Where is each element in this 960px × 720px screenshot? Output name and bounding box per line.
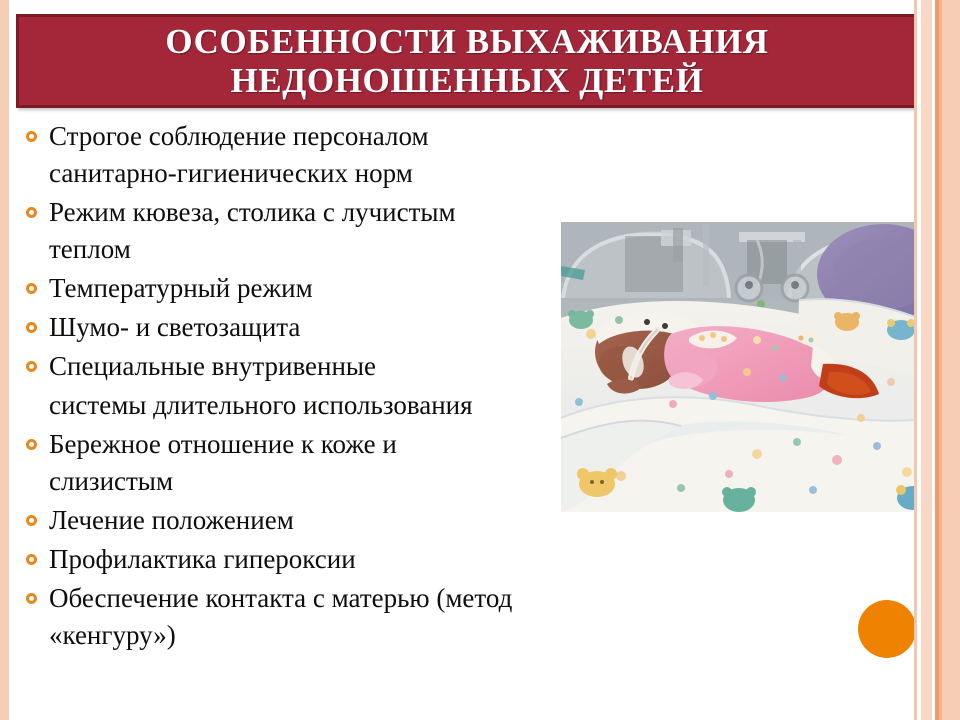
bullet-ring-icon bbox=[26, 283, 37, 294]
list-item-text: Профилактика гипероксии bbox=[49, 541, 646, 578]
list-item-text: Специальные внутривенные bbox=[49, 348, 646, 385]
bullet-ring-icon bbox=[26, 554, 37, 565]
right-decorative-stripes bbox=[914, 0, 960, 720]
list-item-text: Лечение положением bbox=[49, 502, 646, 539]
bullet-list: Строгое соблюдение персоналом санитарно-… bbox=[26, 118, 646, 656]
bullet-ring-icon bbox=[26, 515, 37, 526]
bullet-ring-icon bbox=[26, 593, 37, 604]
list-item-text: Температурный режим bbox=[49, 270, 646, 307]
slide-canvas: ОСОБЕННОСТИ ВЫХАЖИВАНИЯ НЕДОНОШЕННЫХ ДЕТ… bbox=[0, 0, 960, 720]
list-item-text: системы длительного использования bbox=[49, 387, 646, 424]
list-item: Специальные внутривенные bbox=[26, 348, 646, 385]
list-item: Температурный режим bbox=[26, 270, 646, 307]
page-title: ОСОБЕННОСТИ ВЫХАЖИВАНИЯ НЕДОНОШЕННЫХ ДЕТ… bbox=[155, 22, 778, 100]
list-item: Бережное отношение к коже и слизистым bbox=[26, 426, 646, 500]
bullet-ring-icon bbox=[26, 322, 37, 333]
bullet-ring-icon bbox=[26, 131, 37, 142]
slide-title-box: ОСОБЕННОСТИ ВЫХАЖИВАНИЯ НЕДОНОШЕННЫХ ДЕТ… bbox=[16, 14, 918, 108]
incubator-photo bbox=[561, 222, 939, 512]
list-item: Обеспечение контакта с матерью (метод «к… bbox=[26, 580, 646, 654]
left-decorative-stripe-gap bbox=[9, 0, 12, 720]
bullet-ring-icon bbox=[26, 361, 37, 372]
left-decorative-stripe bbox=[0, 0, 9, 720]
list-item: Шумо- и светозащита bbox=[26, 309, 646, 346]
list-item-continuation: системы длительного использования bbox=[26, 387, 646, 424]
list-item-text: Строгое соблюдение персоналом санитарно-… bbox=[49, 118, 646, 192]
stripe-3 bbox=[921, 0, 932, 720]
accent-circle bbox=[858, 600, 916, 658]
list-item: Лечение положением bbox=[26, 502, 646, 539]
bullet-ring-icon bbox=[26, 439, 37, 450]
list-item: Строгое соблюдение персоналом санитарно-… bbox=[26, 118, 646, 192]
list-item-text: Бережное отношение к коже и слизистым bbox=[49, 426, 646, 500]
list-item-text: Шумо- и светозащита bbox=[49, 309, 646, 346]
stripe-7 bbox=[942, 0, 960, 720]
list-item-text: Обеспечение контакта с матерью (метод «к… bbox=[49, 580, 646, 654]
list-item: Профилактика гипероксии bbox=[26, 541, 646, 578]
bullet-ring-icon bbox=[26, 207, 37, 218]
list-item-text: Режим кювеза, столика с лучистым теплом bbox=[49, 194, 646, 268]
list-item: Режим кювеза, столика с лучистым теплом bbox=[26, 194, 646, 268]
